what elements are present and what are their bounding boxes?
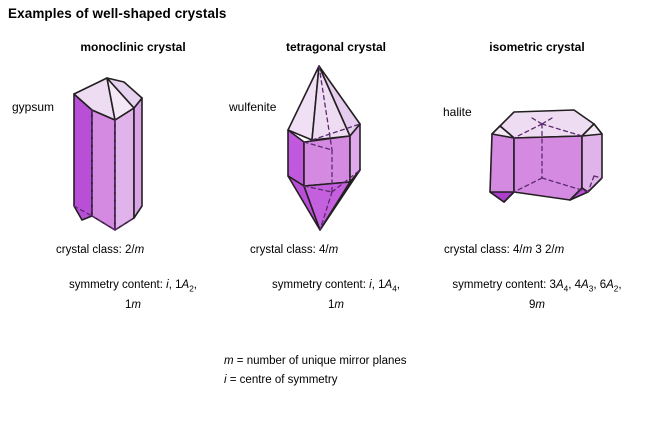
crystal-class-monoclinic: crystal class: 2/m xyxy=(56,243,144,258)
symmetry-content-isometric-line2: 9m xyxy=(431,297,643,313)
column-heading-monoclinic: monoclinic crystal xyxy=(33,40,233,54)
legend-mirror-planes: m = number of unique mirror planes xyxy=(224,355,407,367)
crystal-class-value-monoclinic: 2/m xyxy=(125,244,144,256)
crystal-class-label-isometric: crystal class: xyxy=(444,244,510,256)
crystal-class-value-isometric: 4/m 3 2/m xyxy=(513,244,564,256)
column-heading-isometric: isometric crystal xyxy=(437,40,637,54)
legend-centre-of-symmetry: i = centre of symmetry xyxy=(224,374,337,386)
symmetry-content-isometric: symmetry content: 3A4, 4A3, 6A2, 9m xyxy=(431,277,643,313)
crystal-class-value-tetragonal: 4/m xyxy=(319,244,338,256)
symmetry-content-monoclinic-line1: symmetry content: i, 1A2, xyxy=(33,277,233,297)
crystal-class-isometric: crystal class: 4/m 3 2/m xyxy=(444,243,564,258)
figure-title: Examples of well-shaped crystals xyxy=(8,6,227,21)
crystal-figure: Examples of well-shaped crystals monocli… xyxy=(0,0,650,433)
symmetry-label-tetragonal: symmetry content: xyxy=(272,279,366,291)
symmetry-content-monoclinic: symmetry content: i, 1A2, 1m xyxy=(33,277,233,313)
crystal-illustration-gypsum xyxy=(60,58,180,238)
symmetry-label-monoclinic: symmetry content: xyxy=(69,279,163,291)
crystal-illustration-wulfenite xyxy=(272,58,382,238)
crystal-illustration-halite xyxy=(470,100,610,215)
mineral-label-gypsum: gypsum xyxy=(12,100,54,114)
symmetry-label-isometric: symmetry content: xyxy=(452,279,546,291)
crystal-class-label-tetragonal: crystal class: xyxy=(250,244,316,256)
symmetry-content-tetragonal-line1: symmetry content: i, 1A4, xyxy=(236,277,436,297)
symmetry-content-tetragonal-line2: 1m xyxy=(236,297,436,313)
column-heading-tetragonal: tetragonal crystal xyxy=(236,40,436,54)
symmetry-content-isometric-line1: symmetry content: 3A4, 4A3, 6A2, xyxy=(431,277,643,297)
crystal-class-tetragonal: crystal class: 4/m xyxy=(250,243,338,258)
symmetry-content-monoclinic-line2: 1m xyxy=(33,297,233,313)
mineral-label-halite: halite xyxy=(443,105,472,119)
symmetry-content-tetragonal: symmetry content: i, 1A4, 1m xyxy=(236,277,436,313)
crystal-class-label-monoclinic: crystal class: xyxy=(56,244,122,256)
mineral-label-wulfenite: wulfenite xyxy=(229,100,276,114)
